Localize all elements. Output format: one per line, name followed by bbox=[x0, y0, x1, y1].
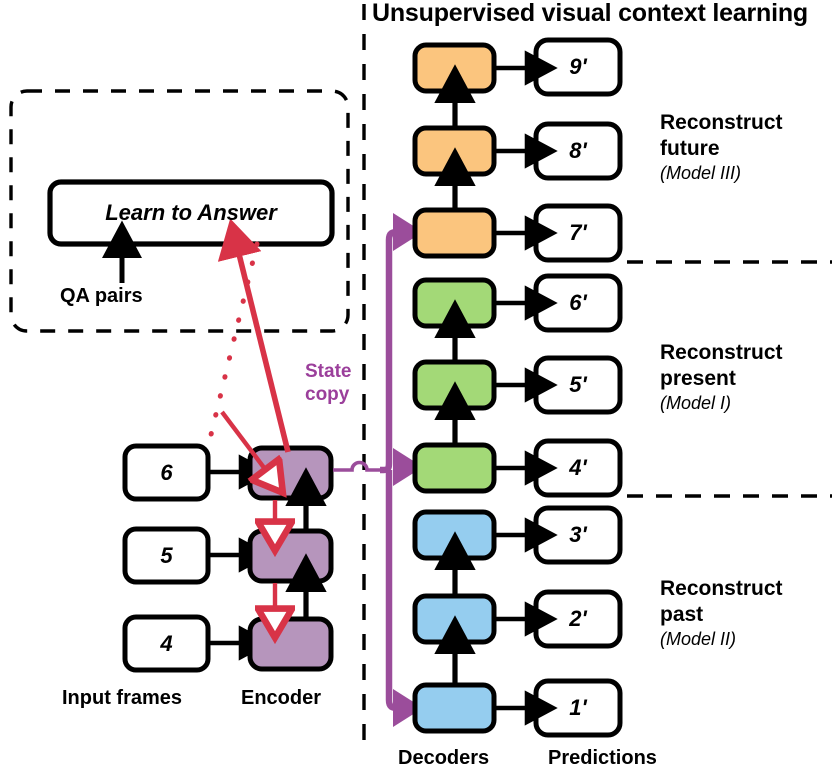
decoder-box-5[interactable] bbox=[415, 362, 494, 408]
prediction-label-3p: 3' bbox=[536, 508, 620, 562]
column-label-decoders: Decoders bbox=[398, 747, 489, 770]
decoder-box-7[interactable] bbox=[415, 210, 494, 256]
column-label-encoder: Encoder bbox=[241, 687, 321, 710]
prediction-label-1p: 1' bbox=[536, 681, 620, 735]
decoder-box-3[interactable] bbox=[415, 512, 494, 558]
input-frame-label-5: 5 bbox=[125, 529, 208, 582]
learn-to-answer-label: Learn to Answer bbox=[50, 182, 332, 244]
prediction-label-2p: 2' bbox=[536, 592, 620, 646]
dotted-red-feedback-line bbox=[209, 244, 257, 443]
encoder-box-bottom[interactable] bbox=[250, 619, 331, 669]
decoder-box-1[interactable] bbox=[415, 685, 494, 731]
page-title: Unsupervised visual context learning bbox=[372, 0, 808, 28]
group-subtitle-past: (Model II) bbox=[660, 627, 736, 651]
qa-pairs-label: QA pairs bbox=[60, 285, 143, 308]
encoder-box-top[interactable] bbox=[250, 448, 331, 498]
decoder-box-2[interactable] bbox=[415, 596, 494, 642]
decoder-box-6[interactable] bbox=[415, 280, 494, 326]
column-label-predictions: Predictions bbox=[548, 747, 657, 770]
decoder-box-9[interactable] bbox=[415, 45, 494, 91]
state-copy-label-line1: State bbox=[305, 360, 351, 383]
encoder-box-mid[interactable] bbox=[250, 531, 331, 581]
prediction-label-8p: 8' bbox=[536, 124, 620, 178]
input-frame-label-6: 6 bbox=[125, 446, 208, 499]
group-title-future-line2: future bbox=[660, 136, 720, 161]
prediction-label-9p: 9' bbox=[536, 40, 620, 94]
group-title-past-line1: Reconstruct bbox=[660, 576, 783, 601]
group-title-present-line2: present bbox=[660, 366, 736, 391]
state-copy-wire bbox=[333, 463, 380, 470]
input-frame-label-4: 4 bbox=[125, 617, 208, 670]
decoder-box-4[interactable] bbox=[415, 445, 494, 491]
group-title-past-line2: past bbox=[660, 602, 703, 627]
state-copy-bus-down bbox=[389, 470, 398, 708]
prediction-label-6p: 6' bbox=[536, 276, 620, 330]
state-copy-bus bbox=[380, 232, 398, 470]
diagram-canvas: Unsupervised visual context learning Lea… bbox=[0, 0, 832, 777]
decoder-box-8[interactable] bbox=[415, 128, 494, 174]
group-title-present-line1: Reconstruct bbox=[660, 340, 783, 365]
arrow-red-open-answer-to-top bbox=[222, 412, 268, 473]
state-copy-label-line2: copy bbox=[305, 383, 349, 406]
arrow-red-encoder-to-answer bbox=[238, 250, 288, 452]
prediction-label-7p: 7' bbox=[536, 206, 620, 260]
group-subtitle-present: (Model I) bbox=[660, 391, 731, 415]
group-subtitle-future: (Model III) bbox=[660, 161, 741, 185]
prediction-label-4p: 4' bbox=[536, 441, 620, 495]
prediction-label-5p: 5' bbox=[536, 358, 620, 412]
group-title-future-line1: Reconstruct bbox=[660, 110, 783, 135]
column-label-input-frames: Input frames bbox=[62, 687, 182, 710]
